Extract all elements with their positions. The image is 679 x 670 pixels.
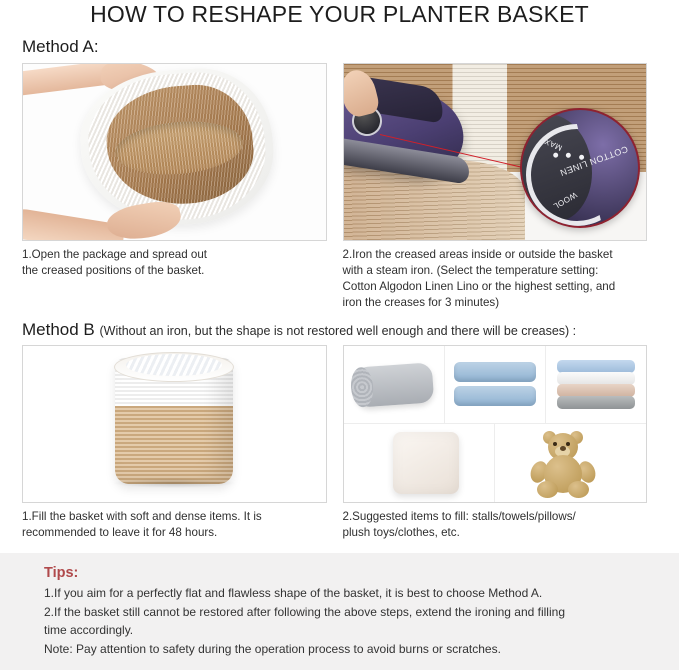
item-teddy-bear [495, 424, 631, 502]
item-rolled-blanket [344, 346, 445, 424]
caption-step-1: 1.Open the package and spread out the cr… [22, 247, 327, 279]
photo-spread-basket [23, 64, 326, 240]
method-a-step-2: COTTON LINEN MAX WOOL 2.Iron the creased… [343, 63, 648, 311]
method-b-step-2: 2.Suggested items to fill: stalls/towels… [343, 345, 648, 541]
image-iron-on-basket: COTTON LINEN MAX WOOL [343, 63, 648, 241]
method-b-heading: Method B (Without an iron, but the shape… [22, 321, 679, 340]
item-stacked-towels [546, 346, 646, 424]
method-b-row: 1.Fill the basket with soft and dense it… [0, 345, 679, 541]
infographic-page: HOW TO RESHAPE YOUR PLANTER BASKET Metho… [0, 0, 679, 670]
folded-towels-icon [454, 362, 536, 408]
item-pillow [358, 424, 495, 502]
method-a-step-1: 1.Open the package and spread out the cr… [22, 63, 327, 311]
tips-panel: Tips: 1.If you aim for a perfectly flat … [0, 553, 679, 670]
items-row-bottom [344, 424, 647, 502]
pillow-icon [393, 432, 459, 494]
photo-items-grid [344, 346, 647, 502]
rolled-blanket-icon [353, 362, 434, 407]
image-hands-spreading-basket [22, 63, 327, 241]
image-filled-basket [22, 345, 327, 503]
items-row-top [344, 346, 647, 424]
photo-rope-basket [23, 346, 326, 502]
item-folded-towels [445, 346, 546, 424]
magnifier-inset: COTTON LINEN MAX WOOL [520, 108, 640, 228]
caption-step-1: 1.Fill the basket with soft and dense it… [22, 509, 327, 541]
tips-body: 1.If you aim for a perfectly flat and fl… [44, 584, 655, 658]
method-a-label: Method A: [22, 37, 99, 56]
method-b-note: (Without an iron, but the shape is not r… [100, 324, 577, 338]
stacked-towels-icon [557, 360, 635, 410]
photo-steam-iron: COTTON LINEN MAX WOOL [344, 64, 647, 240]
teddy-bear-icon [527, 431, 599, 499]
image-suggested-items [343, 345, 648, 503]
basket-contents [126, 354, 222, 376]
page-title: HOW TO RESHAPE YOUR PLANTER BASKET [0, 0, 679, 28]
method-a-row: 1.Open the package and spread out the cr… [0, 63, 679, 311]
method-b-step-1: 1.Fill the basket with soft and dense it… [22, 345, 327, 541]
method-b-label: Method B [22, 320, 95, 339]
caption-step-2: 2.Suggested items to fill: stalls/towels… [343, 509, 648, 541]
tips-heading: Tips: [44, 565, 655, 581]
method-a-heading: Method A: [22, 38, 679, 57]
basket-shadow [112, 478, 236, 488]
caption-step-2: 2.Iron the creased areas inside or outsi… [343, 247, 648, 311]
